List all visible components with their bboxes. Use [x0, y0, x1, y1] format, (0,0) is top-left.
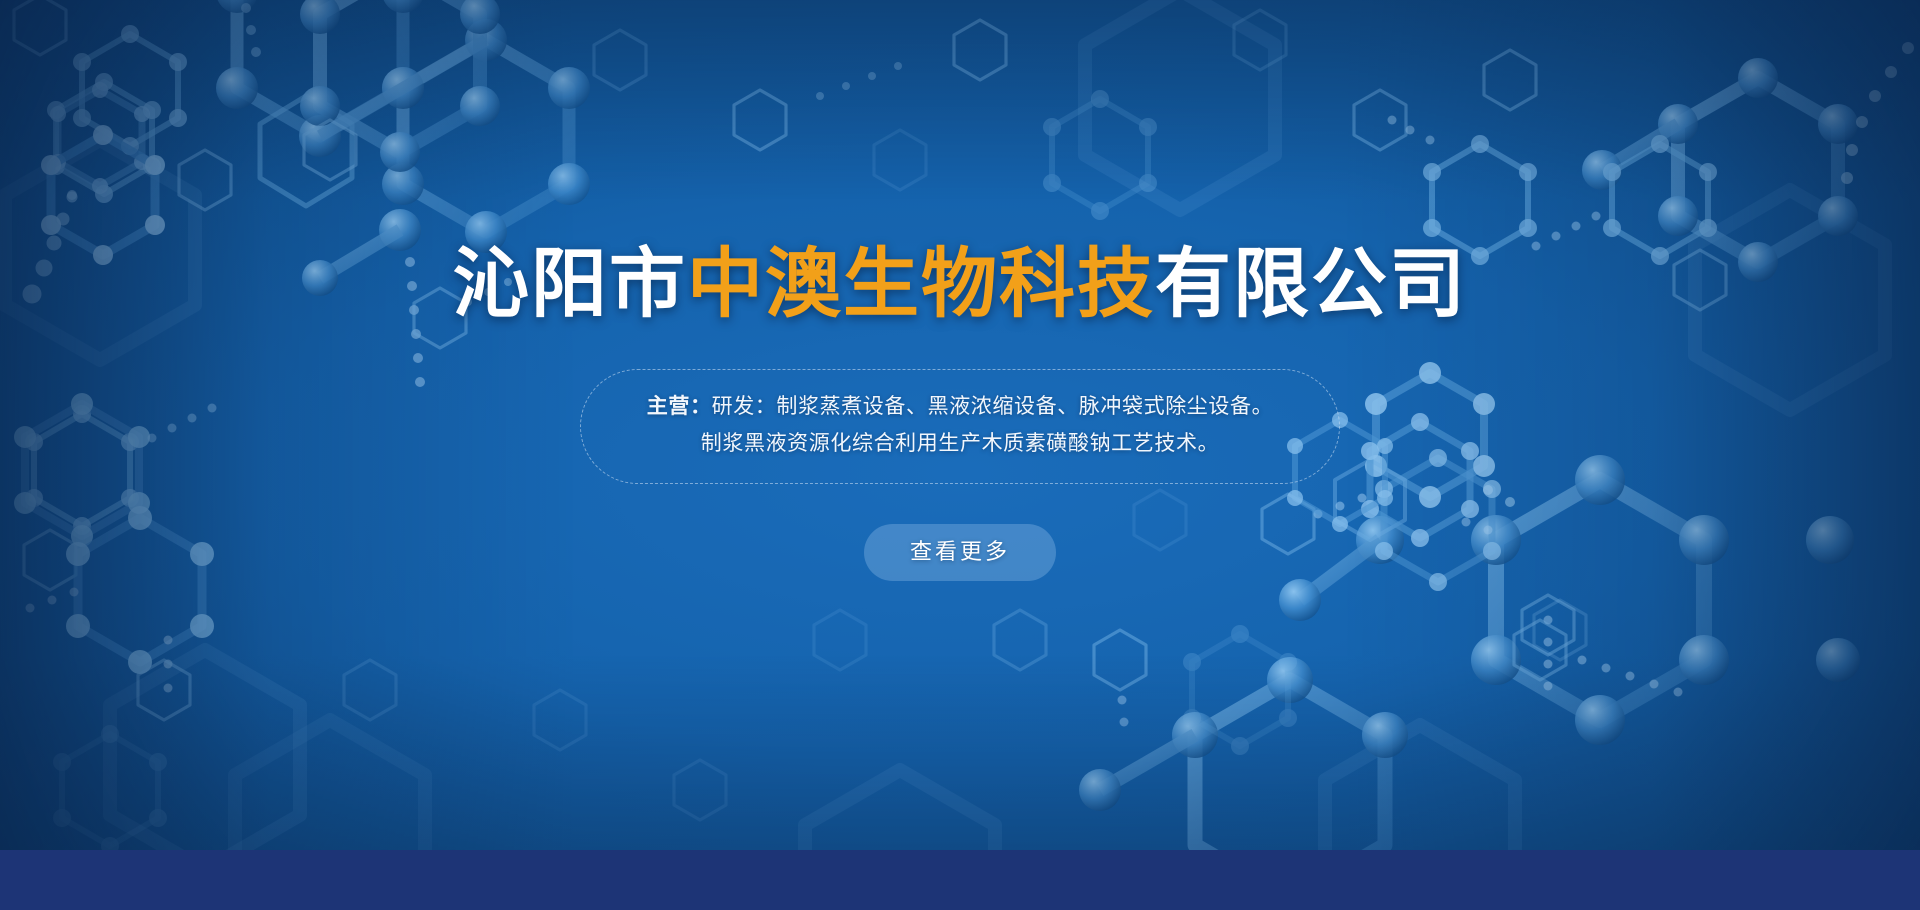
tagline-line-2: 制浆黑液资源化综合利用生产木质素磺酸钠工艺技术。	[647, 426, 1273, 462]
page-title-accent: 中澳生物科技	[687, 242, 1155, 327]
page-title-suffix: 有限公司	[1155, 242, 1467, 327]
tagline-box: 主营：研发：制浆蒸煮设备、黑液浓缩设备、脉冲袋式除尘设备。 制浆黑液资源化综合利…	[580, 369, 1340, 483]
page-title: 沁阳市中澳生物科技有限公司	[453, 247, 1467, 323]
footer-strip	[0, 850, 1920, 910]
tagline-label: 主营：	[647, 395, 712, 418]
view-more-button[interactable]: 查看更多	[864, 524, 1056, 581]
tagline-line-1: 主营：研发：制浆蒸煮设备、黑液浓缩设备、脉冲袋式除尘设备。	[647, 389, 1273, 425]
tagline-line-1-text: 研发：制浆蒸煮设备、黑液浓缩设备、脉冲袋式除尘设备。	[712, 395, 1274, 418]
hero-banner: 沁阳市中澳生物科技有限公司 主营：研发：制浆蒸煮设备、黑液浓缩设备、脉冲袋式除尘…	[0, 0, 1920, 910]
hero-content: 沁阳市中澳生物科技有限公司 主营：研发：制浆蒸煮设备、黑液浓缩设备、脉冲袋式除尘…	[0, 0, 1920, 850]
page-title-prefix: 沁阳市	[453, 242, 687, 327]
